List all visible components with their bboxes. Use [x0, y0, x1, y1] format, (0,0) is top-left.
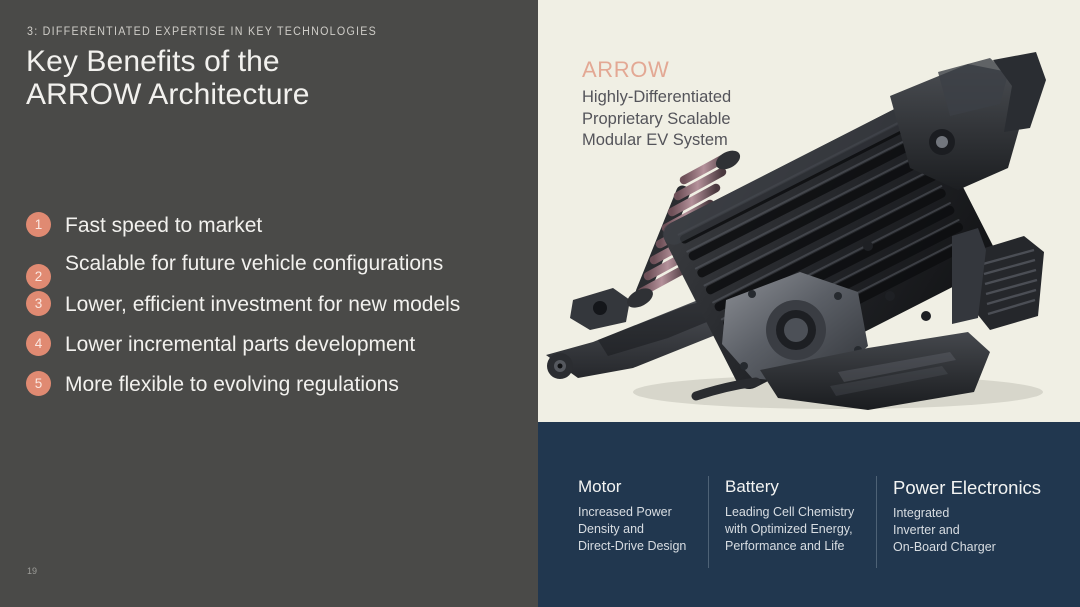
feature-column-battery: Battery Leading Cell Chemistry with Opti… — [708, 478, 876, 556]
list-item-label: More flexible to evolving regulations — [65, 371, 399, 399]
badge-number: 2 — [26, 264, 51, 289]
feature-body: Integrated Inverter and On-Board Charger — [893, 505, 1061, 556]
feature-body-line-2: Inverter and — [893, 522, 1061, 539]
product-tagline: Highly-Differentiated Proprietary Scalab… — [582, 87, 731, 152]
badge-number: 4 — [26, 331, 51, 356]
product-tagline-line-3: Modular EV System — [582, 130, 731, 152]
list-item-label: Fast speed to market — [65, 212, 262, 240]
list-item: 1 Fast speed to market — [26, 212, 526, 240]
feature-body-line-2: with Optimized Energy, — [725, 521, 876, 538]
page-title-line-2: ARROW Architecture — [26, 79, 310, 112]
feature-heading: Battery — [725, 478, 876, 497]
feature-heading: Power Electronics — [893, 478, 1061, 498]
section-kicker: 3: DIFFERENTIATED EXPERTISE IN KEY TECHN… — [27, 26, 377, 38]
page-number: 19 — [27, 566, 37, 576]
feature-column-power-electronics: Power Electronics Integrated Inverter an… — [876, 478, 1061, 556]
feature-column-motor: Motor Increased Power Density and Direct… — [578, 478, 708, 556]
feature-body-line-1: Integrated — [893, 505, 1061, 522]
badge-number: 1 — [26, 212, 51, 237]
left-content-panel: 3: DIFFERENTIATED EXPERTISE IN KEY TECHN… — [0, 0, 538, 607]
page-title-line-1: Key Benefits of the — [26, 46, 310, 79]
page-title: Key Benefits of the ARROW Architecture — [26, 46, 310, 111]
product-tagline-line-1: Highly-Differentiated — [582, 87, 731, 109]
list-item-label: Lower, efficient investment for new mode… — [65, 291, 460, 319]
feature-band: Motor Increased Power Density and Direct… — [538, 422, 1080, 607]
benefits-list: 1 Fast speed to market 2 Scalable for fu… — [26, 212, 526, 409]
feature-body-line-1: Leading Cell Chemistry — [725, 504, 876, 521]
list-item: 4 Lower incremental parts development — [26, 331, 526, 359]
badge-number: 3 — [26, 291, 51, 316]
list-item: 5 More flexible to evolving regulations — [26, 371, 526, 399]
feature-body-line-2: Density and — [578, 521, 708, 538]
feature-body-line-3: Direct-Drive Design — [578, 538, 708, 555]
feature-body-line-1: Increased Power — [578, 504, 708, 521]
feature-body: Increased Power Density and Direct-Drive… — [578, 504, 708, 555]
badge-number: 5 — [26, 371, 51, 396]
slide: 3: DIFFERENTIATED EXPERTISE IN KEY TECHN… — [0, 0, 1080, 607]
feature-columns: Motor Increased Power Density and Direct… — [578, 478, 1061, 556]
feature-body-line-3: On-Board Charger — [893, 539, 1061, 556]
product-name: ARROW — [582, 57, 669, 83]
list-item: 2 Scalable for future vehicle configurat… — [26, 250, 526, 289]
feature-heading: Motor — [578, 478, 708, 497]
product-tagline-line-2: Proprietary Scalable — [582, 109, 731, 131]
feature-body-line-3: Performance and Life — [725, 538, 876, 555]
feature-body: Leading Cell Chemistry with Optimized En… — [725, 504, 876, 555]
list-item-label: Lower incremental parts development — [65, 331, 415, 359]
right-feature-panel: ARROW Highly-Differentiated Proprietary … — [538, 0, 1080, 607]
product-photo: ARROW Highly-Differentiated Proprietary … — [538, 0, 1080, 422]
list-item: 3 Lower, efficient investment for new mo… — [26, 291, 526, 319]
list-item-label: Scalable for future vehicle configuratio… — [65, 250, 443, 278]
